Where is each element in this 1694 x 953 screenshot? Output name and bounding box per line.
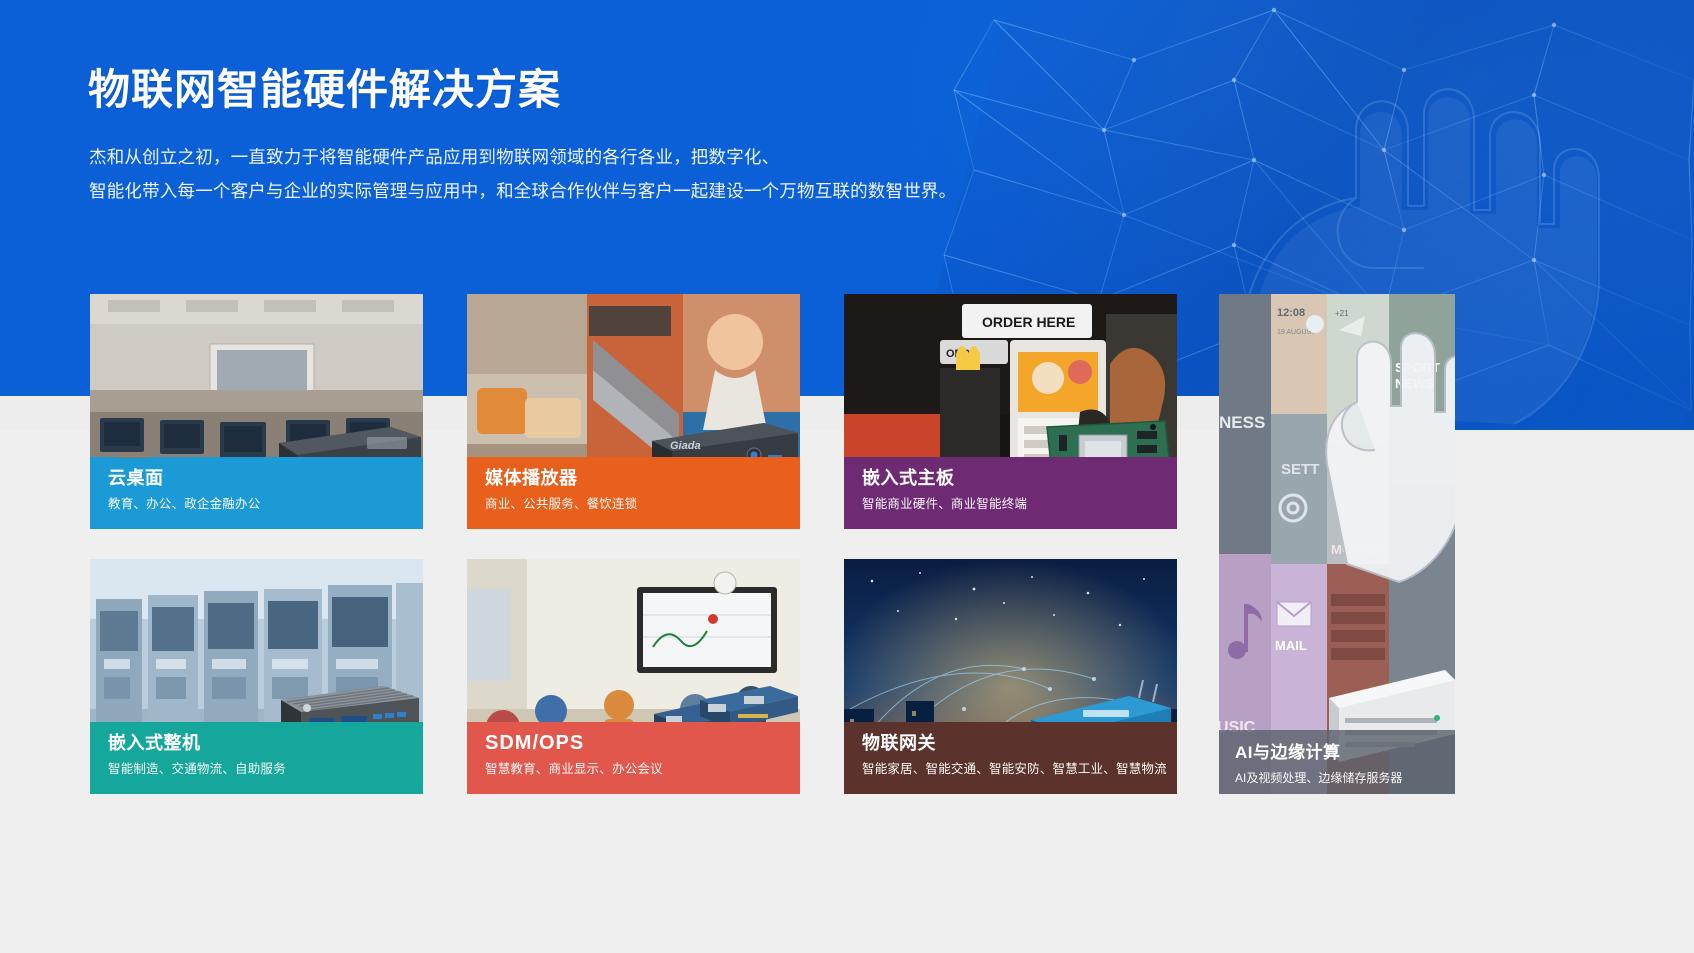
card-title: 嵌入式整机 [108,732,423,754]
card-subtitle: 教育、办公、政企金融办公 [108,496,423,512]
page-title: 物联网智能硬件解决方案 [88,56,561,117]
card-caption-band: 嵌入式主板 智能商业硬件、商业智能终端 [844,457,1177,529]
card-subtitle: 智能商业硬件、商业智能终端 [862,496,1177,512]
signage-settings-label: SETT [1281,461,1319,478]
card-caption-band: 媒体播放器 商业、公共服务、餐饮连锁 [467,457,800,529]
hero-subtitle: 杰和从创立之初，一直致力于将智能硬件产品应用到物联网领域的各行各业，把数字化、 … [89,140,956,208]
card-caption-band: 物联网关 智能家居、智能交通、智能安防、智慧工业、智慧物流 [844,722,1177,794]
signage-clock-label: 12:08 [1277,307,1305,319]
digital-signage-wall-photo: 12:08 19 AUGUST +21 NESS SPORT NEWS SETT… [1219,294,1455,794]
card-title: 媒体播放器 [485,467,800,489]
panel-subtitle: AI及视频处理、边缘储存服务器 [1235,769,1455,786]
solution-card-grid: Giada 云桌面 教育、办公、政企金融办公 [90,294,1176,794]
panel-title: AI与边缘计算 [1235,738,1455,763]
signage-business-label: NESS [1219,413,1265,432]
solution-card[interactable]: ORDER HERE ORD cDonald's [844,294,1177,529]
order-here-sign-label: ORDER HERE [982,314,1075,330]
card-title: SDM/OPS [485,732,800,754]
card-caption-band: 云桌面 教育、办公、政企金融办公 [90,457,423,529]
card-title: 物联网关 [862,732,1177,754]
card-subtitle: 商业、公共服务、餐饮连锁 [485,496,800,512]
signage-mail-label: MAIL [1275,638,1307,653]
solution-card[interactable]: 嵌入式整机 智能制造、交通物流、自助服务 [90,559,423,794]
panel-caption-band: AI与边缘计算 AI及视频处理、边缘储存服务器 [1219,730,1455,794]
page-root: 物联网智能硬件解决方案 杰和从创立之初，一直致力于将智能硬件产品应用到物联网领域… [0,0,1694,953]
card-title: 嵌入式主板 [862,467,1177,489]
solution-card[interactable]: im EG Giada 媒体播放器 商业、公共服务、餐饮连锁 [467,294,800,529]
svg-text:+21: +21 [1335,309,1349,318]
card-subtitle: 智能制造、交通物流、自助服务 [108,761,423,777]
solution-card[interactable]: Giada 云桌面 教育、办公、政企金融办公 [90,294,423,529]
card-title: 云桌面 [108,467,423,489]
card-caption-band: SDM/OPS 智慧教育、商业显示、办公会议 [467,722,800,794]
solution-card[interactable]: 物联网关 智能家居、智能交通、智能安防、智慧工业、智慧物流 [844,559,1177,794]
card-subtitle: 智能家居、智能交通、智能安防、智慧工业、智慧物流 [862,761,1177,777]
card-subtitle: 智慧教育、商业显示、办公会议 [485,761,800,777]
solution-card[interactable]: SDM/OPS 智慧教育、商业显示、办公会议 [467,559,800,794]
card-caption-band: 嵌入式整机 智能制造、交通物流、自助服务 [90,722,423,794]
ai-edge-computing-panel[interactable]: 12:08 19 AUGUST +21 NESS SPORT NEWS SETT… [1219,294,1455,794]
